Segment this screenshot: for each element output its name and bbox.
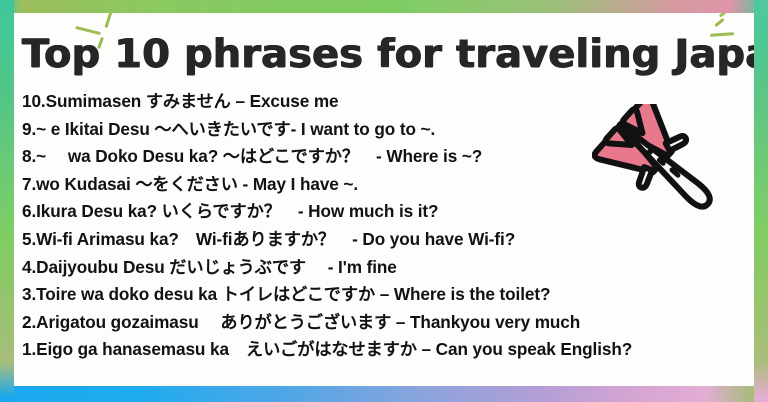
- list-item: 9.~ e Ikitai Desu 〜へいきたいです- I want to go…: [22, 116, 762, 144]
- list-item: 8.~ wa Doko Desu ka? 〜はどこですか？ - Where is…: [22, 143, 762, 171]
- list-item: 6.Ikura Desu ka? いくらですか？ - How much is i…: [22, 198, 762, 226]
- phrase-list: 10.Sumimasen すみません – Excuse me 9.~ e Iki…: [22, 88, 762, 364]
- border-top-gradient: [0, 0, 768, 13]
- list-item: 4.Daijyoubu Desu だいじょうぶです - I'm fine: [22, 254, 762, 282]
- phrase-poster: Top 10 phrases for traveling Japan 10.Su…: [0, 0, 768, 402]
- border-right-gradient: [754, 0, 768, 402]
- list-item: 2.Arigatou gozaimasu ありがとうございます – Thanky…: [22, 309, 762, 337]
- border-left-gradient: [0, 0, 14, 402]
- page-title: Top 10 phrases for traveling Japan: [22, 30, 768, 80]
- list-item: 3.Toire wa doko desu ka トイレはどこですか – Wher…: [22, 281, 762, 309]
- list-item: 10.Sumimasen すみません – Excuse me: [22, 88, 762, 116]
- list-item: 5.Wi-fi Arimasu ka? Wi-fiありますか？ - Do you…: [22, 226, 762, 254]
- border-bottom-gradient: [0, 386, 768, 402]
- list-item: 7.wo Kudasai 〜をください - May I have ~.: [22, 171, 762, 199]
- list-item: 1.Eigo ga hanasemasu ka えいごがはなせますか – Can…: [22, 336, 762, 364]
